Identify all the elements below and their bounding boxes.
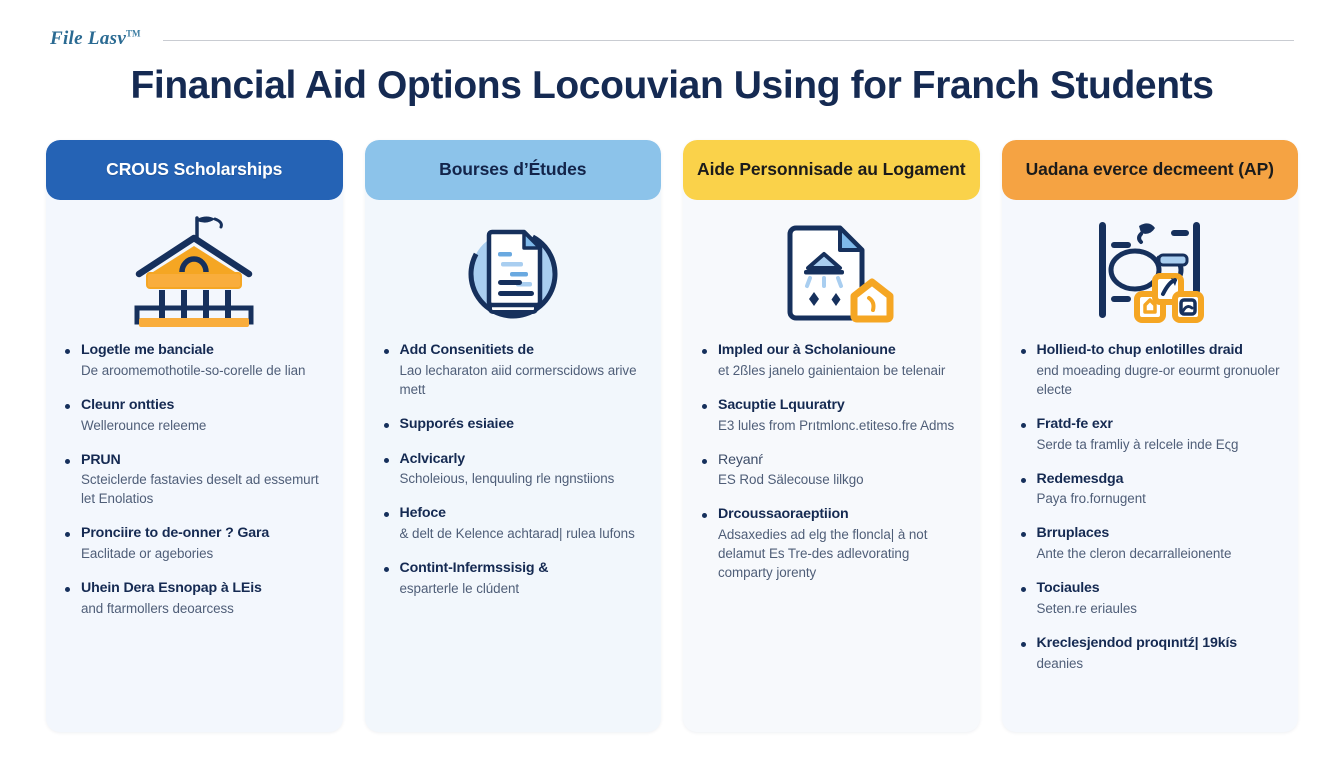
- list-item: Sacuptie Lquuratry E3 lules from Prıtmlo…: [697, 397, 966, 435]
- point-title: Fratd-fe exr: [1037, 416, 1285, 434]
- point-title: Impled our à Scholanioune: [718, 342, 966, 360]
- point-desc: deanies: [1037, 654, 1285, 673]
- point-desc: Adsaxedies ad elg the floncla| à not del…: [718, 525, 966, 582]
- list-item: Hollieıd-to chup enlotilles draid end mo…: [1016, 342, 1285, 399]
- list-item: Tociaules Seten.re eriaules: [1016, 580, 1285, 618]
- point-title: Pronciire to de-onner ? Gara: [81, 525, 329, 543]
- point-desc: Scteiclerde fastavies deselt ad essemurt…: [81, 470, 329, 508]
- point-desc: end moeading dugre-or eourmt gronuoler e…: [1037, 361, 1285, 399]
- point-desc: Ante the cleron decarralleionente: [1037, 544, 1285, 563]
- card-body: Impled our à Scholanioune et 2ßles janel…: [683, 342, 980, 732]
- list-item: Reyanŕ ES Rod Sälecouse lilkgo: [697, 452, 966, 490]
- point-title: Tociaules: [1037, 580, 1285, 598]
- list-item: Pronciire to de-onner ? Gara Eaclitade o…: [60, 525, 329, 563]
- point-desc: De aroomemothotile-so-corelle de lian: [81, 361, 329, 380]
- point-title: Reyanŕ: [718, 452, 966, 470]
- family-housing-blocks-icon: [1002, 200, 1299, 342]
- point-desc: Scholeious, lenquuling rle ngnstiions: [400, 469, 648, 488]
- card-crous-scholarships[interactable]: CROUS Scholarships: [46, 140, 343, 732]
- scholarship-document-icon: [365, 200, 662, 342]
- list-item: Uhein Dera Esnopap à LEis and ftarmoller…: [60, 580, 329, 618]
- brand-name: File Lasv: [50, 28, 126, 49]
- points-list: Impled our à Scholanioune et 2ßles janel…: [697, 342, 966, 582]
- card-header: Aide Personnisade au Logament: [683, 140, 980, 200]
- point-title: Supporés esiaiee: [400, 416, 648, 434]
- list-item: Kreclesjendod proqınıtź| 19kís deanies: [1016, 635, 1285, 673]
- point-title: Cleunr ontties: [81, 397, 329, 415]
- point-title: Logetle me banciale: [81, 342, 329, 360]
- infographic-page: File LasvTM Financial Aid Options Locouv…: [0, 0, 1344, 768]
- list-item: Hefoce & delt de Kelence achtarad| rulea…: [379, 505, 648, 543]
- point-desc: Eaclitade or agebories: [81, 544, 329, 563]
- list-item: Add Consenitiets de Lao lecharaton aiid …: [379, 342, 648, 399]
- bank-building-icon: [46, 200, 343, 342]
- point-title: PRUN: [81, 452, 329, 470]
- point-title: Add Consenitiets de: [400, 342, 648, 360]
- card-body: Logetle me banciale De aroomemothotile-s…: [46, 342, 343, 732]
- card-aide-personnalisee-au-logement[interactable]: Aide Personnisade au Logament: [683, 140, 980, 732]
- list-item: Fratd-fe exr Serde ta framliy à relcele …: [1016, 416, 1285, 454]
- point-title: Kreclesjendod proqınıtź| 19kís: [1037, 635, 1285, 653]
- list-item: Redemesdga Paya fro.fornugent: [1016, 471, 1285, 509]
- list-item: Brruplaces Ante the cleron decarralleion…: [1016, 525, 1285, 563]
- point-title: Drcoussaoraeptiion: [718, 506, 966, 524]
- card-header: Uadana everce decmeent (AP): [1002, 140, 1299, 200]
- point-desc: Seten.re eriaules: [1037, 599, 1285, 618]
- card-body: Add Consenitiets de Lao lecharaton aiid …: [365, 342, 662, 732]
- list-item: Logetle me banciale De aroomemothotile-s…: [60, 342, 329, 380]
- point-title: Sacuptie Lquuratry: [718, 397, 966, 415]
- points-list: Hollieıd-to chup enlotilles draid end mo…: [1016, 342, 1285, 673]
- point-desc: & delt de Kelence achtarad| rulea lufons: [400, 524, 648, 543]
- list-item: Contint-Infermssisig & esparterle le clú…: [379, 560, 648, 598]
- card-bourses-detudes[interactable]: Bourses d’Études: [365, 140, 662, 732]
- point-desc: Wellerounce releeme: [81, 416, 329, 435]
- list-item: Cleunr ontties Wellerounce releeme: [60, 397, 329, 435]
- list-item: Drcoussaoraeptiion Adsaxedies ad elg the…: [697, 506, 966, 582]
- brand-logo: File LasvTM: [50, 28, 145, 50]
- housing-document-icon: [683, 200, 980, 342]
- list-item: Aclvicarly Scholeious, lenquuling rle ng…: [379, 451, 648, 489]
- point-title: Hefoce: [400, 505, 648, 523]
- card-uadana-everce-decmeent[interactable]: Uadana everce decmeent (AP): [1002, 140, 1299, 732]
- point-desc: ES Rod Sälecouse lilkgo: [718, 470, 966, 489]
- card-header: CROUS Scholarships: [46, 140, 343, 200]
- point-desc: E3 lules from Prıtmlonc.etiteso.fre Adms: [718, 416, 966, 435]
- point-desc: Lao lecharaton aiid cormerscidows arive …: [400, 361, 648, 399]
- point-title: Contint-Infermssisig &: [400, 560, 648, 578]
- point-title: Brruplaces: [1037, 525, 1285, 543]
- point-desc: Paya fro.fornugent: [1037, 489, 1285, 508]
- point-title: Redemesdga: [1037, 471, 1285, 489]
- cards-grid: CROUS Scholarships: [46, 140, 1298, 732]
- brand-bar: File LasvTM: [50, 24, 1294, 54]
- card-header: Bourses d’Études: [365, 140, 662, 200]
- point-desc: and ftarmollers deoarcess: [81, 599, 329, 618]
- list-item: PRUN Scteiclerde fastavies deselt ad ess…: [60, 452, 329, 509]
- point-title: Aclvicarly: [400, 451, 648, 469]
- card-body: Hollieıd-to chup enlotilles draid end mo…: [1002, 342, 1299, 732]
- point-desc: et 2ßles janelo gainientaion be telenair: [718, 361, 966, 380]
- list-item: Supporés esiaiee: [379, 416, 648, 434]
- page-title: Financial Aid Options Locouvian Using fo…: [50, 64, 1294, 108]
- point-title: Hollieıd-to chup enlotilles draid: [1037, 342, 1285, 360]
- trademark-symbol: TM: [126, 29, 141, 39]
- points-list: Logetle me banciale De aroomemothotile-s…: [60, 342, 329, 618]
- header-divider: [163, 40, 1294, 41]
- point-desc: Serde ta framliy à relcele inde Eςg: [1037, 435, 1285, 454]
- list-item: Impled our à Scholanioune et 2ßles janel…: [697, 342, 966, 380]
- point-desc: esparterle le clúdent: [400, 579, 648, 598]
- points-list: Add Consenitiets de Lao lecharaton aiid …: [379, 342, 648, 598]
- point-title: Uhein Dera Esnopap à LEis: [81, 580, 329, 598]
